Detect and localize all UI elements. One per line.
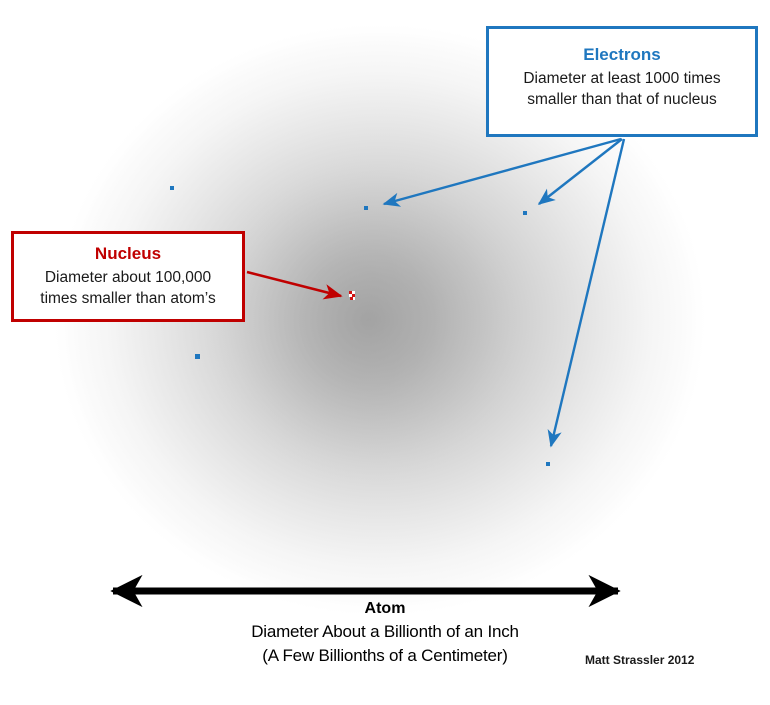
nucleus-callout-line-2: times smaller than atom’s (14, 288, 242, 309)
electron-dot (546, 462, 550, 466)
electrons-callout-line-2: smaller than that of nucleus (489, 89, 755, 110)
nucleus-dot (349, 291, 355, 300)
electron-arrow-2 (539, 139, 622, 204)
diagram-canvas: Electrons Diameter at least 1000 times s… (0, 0, 770, 705)
atom-caption-line-1: Diameter About a Billionth of an Inch (0, 620, 770, 644)
electrons-callout: Electrons Diameter at least 1000 times s… (486, 26, 758, 137)
credit-text: Matt Strassler 2012 (585, 653, 694, 667)
nucleus-callout: Nucleus Diameter about 100,000 times sma… (11, 231, 245, 322)
electron-arrow-1 (384, 139, 621, 204)
atom-label: Atom (0, 598, 770, 620)
electrons-callout-line-1: Diameter at least 1000 times (489, 68, 755, 89)
electron-dot (195, 354, 200, 359)
nucleus-callout-line-1: Diameter about 100,000 (14, 267, 242, 288)
electron-dot (170, 186, 174, 190)
electrons-callout-title: Electrons (489, 44, 755, 66)
nucleus-arrow (247, 272, 341, 296)
electron-dot (523, 211, 527, 215)
nucleus-callout-title: Nucleus (14, 243, 242, 265)
electron-dot (364, 206, 368, 210)
